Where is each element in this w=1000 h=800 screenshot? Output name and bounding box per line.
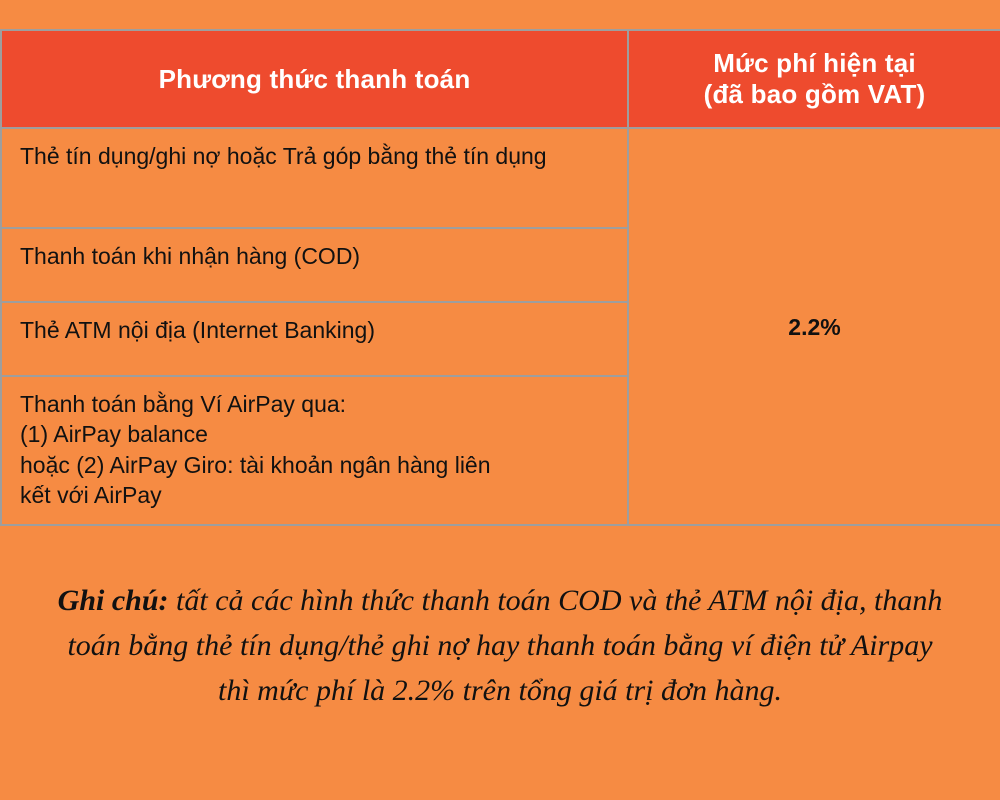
payment-method-text-line4: kết với AirPay (20, 480, 609, 510)
payment-fee-table: Phương thức thanh toán Mức phí hiện tại … (0, 29, 1000, 526)
payment-method-text: Thẻ tín dụng/ghi nợ hoặc Trả góp bằng th… (20, 141, 609, 171)
fee-schedule-page: Phương thức thanh toán Mức phí hiện tại … (0, 0, 1000, 800)
column-header-payment-method: Phương thức thanh toán (1, 30, 628, 128)
column-header-current-fee-line1: Mức phí hiện tại (637, 48, 992, 79)
note-body: tất cả các hình thức thanh toán COD và t… (67, 584, 942, 707)
payment-method-airpay: Thanh toán bằng Ví AirPay qua: (1) AirPa… (1, 376, 628, 525)
payment-method-cod: Thanh toán khi nhận hàng (COD) (1, 228, 628, 302)
payment-method-text: Thẻ ATM nội địa (Internet Banking) (20, 315, 609, 345)
fee-value-cell: 2.2% (628, 128, 1000, 525)
table-body: Thẻ tín dụng/ghi nợ hoặc Trả góp bằng th… (1, 128, 1000, 525)
table-header-row: Phương thức thanh toán Mức phí hiện tại … (1, 30, 1000, 128)
table-row: Thẻ tín dụng/ghi nợ hoặc Trả góp bằng th… (1, 128, 1000, 228)
payment-method-text-line1: Thanh toán bằng Ví AirPay qua: (20, 389, 609, 419)
note-label: Ghi chú: (58, 584, 169, 617)
table-header: Phương thức thanh toán Mức phí hiện tại … (1, 30, 1000, 128)
column-header-current-fee: Mức phí hiện tại (đã bao gồm VAT) (628, 30, 1000, 128)
column-header-current-fee-line2: (đã bao gồm VAT) (637, 79, 992, 110)
payment-method-credit-card: Thẻ tín dụng/ghi nợ hoặc Trả góp bằng th… (1, 128, 628, 228)
note-paragraph: Ghi chú: tất cả các hình thức thanh toán… (50, 578, 950, 713)
payment-method-text-line3: hoặc (2) AirPay Giro: tài khoản ngân hàn… (20, 450, 609, 480)
payment-method-text-line2: (1) AirPay balance (20, 419, 609, 449)
payment-method-atm: Thẻ ATM nội địa (Internet Banking) (1, 302, 628, 376)
payment-method-text: Thanh toán khi nhận hàng (COD) (20, 241, 609, 271)
